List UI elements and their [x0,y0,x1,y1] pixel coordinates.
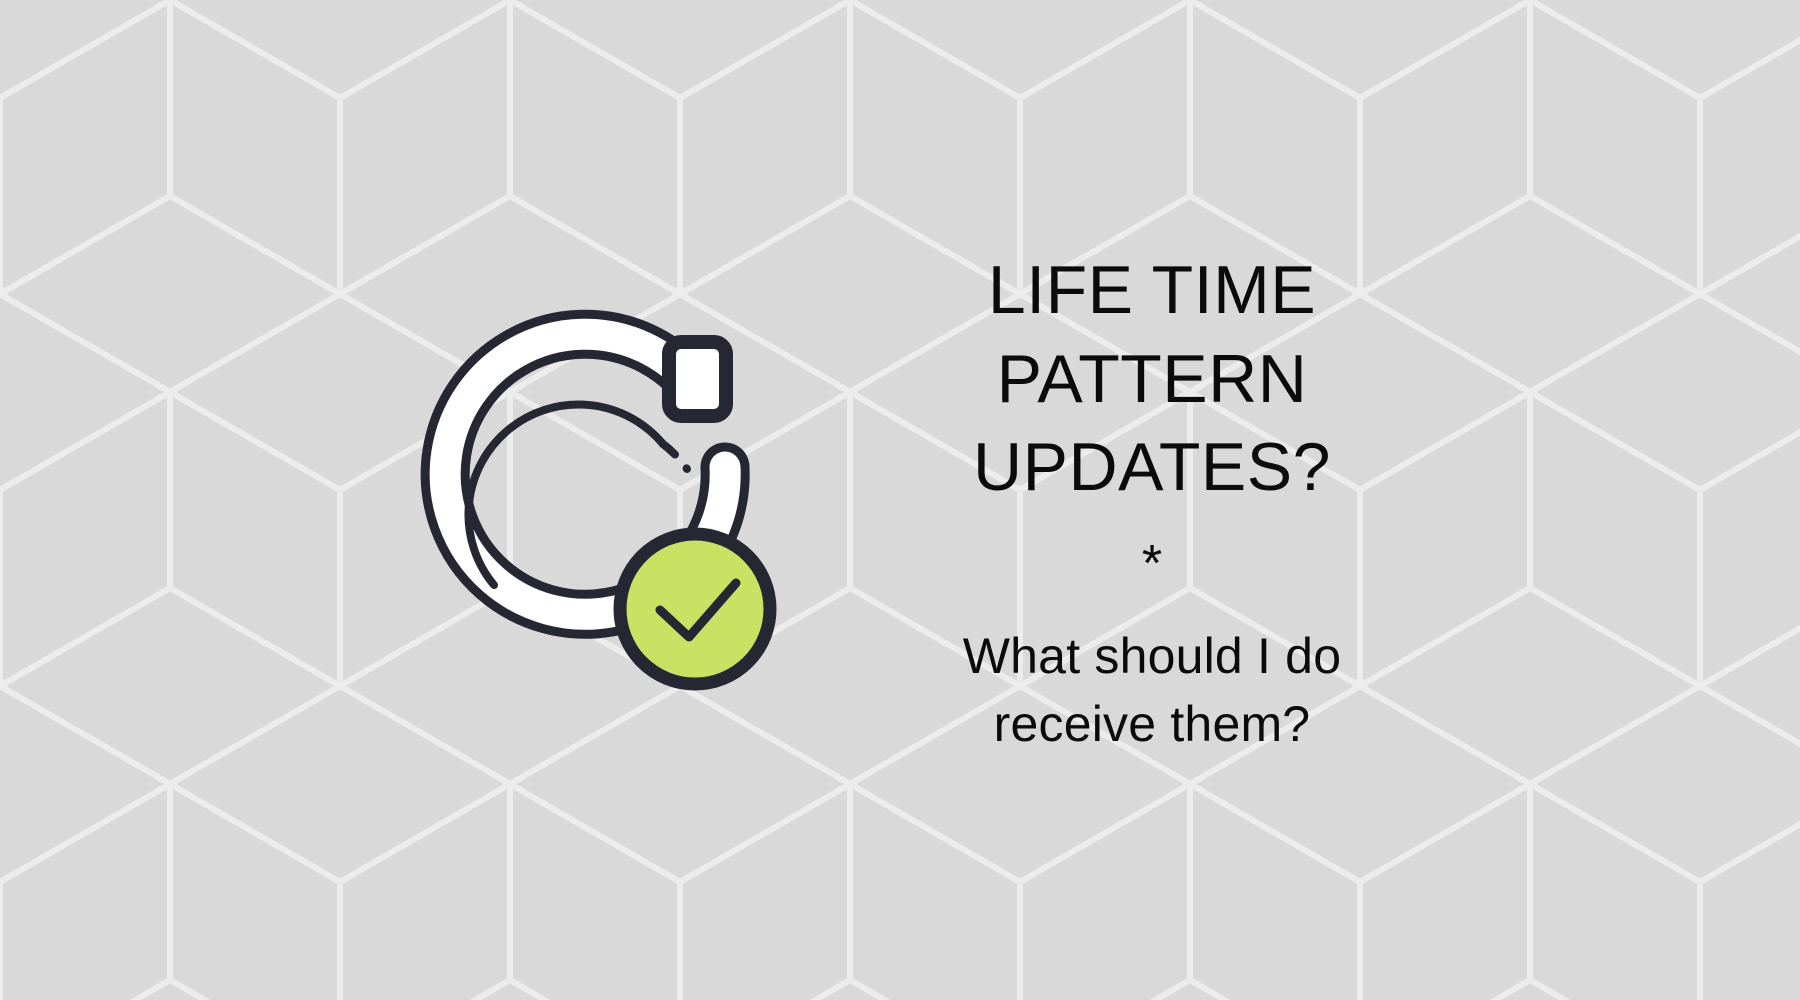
subtitle-line-2: receive them? [892,690,1412,758]
text-block: LIFE TIME PATTERN UPDATES? * What should… [892,246,1412,757]
refresh-arrow-head-shape [669,342,726,416]
content-row: LIFE TIME PATTERN UPDATES? * What should… [0,0,1800,1000]
headline-line-3: UPDATES? [892,423,1412,511]
check-badge-circle [620,534,770,684]
refresh-inner-dashed-arc [663,444,687,469]
subtitle-line-1: What should I do [892,622,1412,690]
slide-canvas: LIFE TIME PATTERN UPDATES? * What should… [0,0,1800,1000]
asterisk-separator: * [892,529,1412,599]
headline-line-2: PATTERN [892,335,1412,423]
headline-line-1: LIFE TIME [892,246,1412,334]
refresh-arrow-head [669,342,726,416]
refresh-check-icon-svg [398,306,798,706]
check-badge [620,534,770,684]
refresh-check-icon [398,306,798,706]
